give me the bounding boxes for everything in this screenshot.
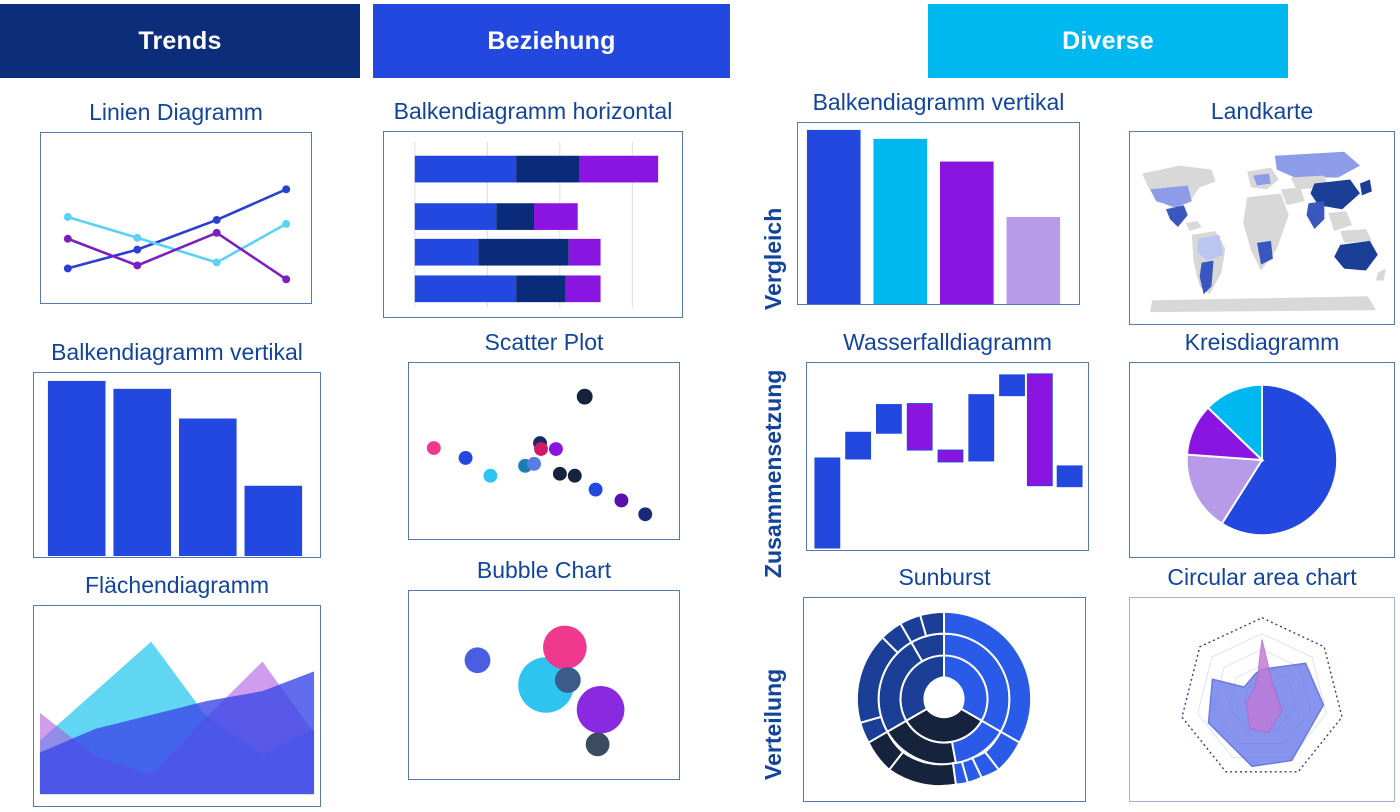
bar <box>113 389 171 556</box>
card-wasserfalldiagramm[interactable]: Wasserfalldiagramm <box>806 330 1089 551</box>
card-title-landkarte: Landkarte <box>1129 99 1395 124</box>
card-circular-area-chart[interactable]: Circular area chart <box>1129 565 1395 802</box>
sunburst-rings <box>857 612 1031 786</box>
chart-wasserfalldiagramm[interactable] <box>806 362 1089 551</box>
chart-landkarte[interactable] <box>1129 131 1395 325</box>
chart-circular-area-chart[interactable] <box>1129 597 1395 802</box>
side-label-vergleich: Vergleich <box>760 150 787 310</box>
card-title-kreisdiagramm: Kreisdiagramm <box>1129 330 1395 355</box>
radar-series <box>1209 640 1324 767</box>
card-landkarte[interactable]: Landkarte <box>1129 99 1395 325</box>
bar <box>1007 217 1061 304</box>
chart-linien-diagramm[interactable] <box>40 132 312 304</box>
chart-balkendiagramm-vertikal-1[interactable] <box>33 372 321 558</box>
card-title-sunburst: Sunburst <box>803 565 1086 590</box>
chart-kreisdiagramm[interactable] <box>1129 362 1395 558</box>
chart-scatter-plot[interactable] <box>408 362 680 540</box>
bar-row <box>415 239 601 266</box>
card-bubble-chart[interactable]: Bubble Chart <box>408 558 680 780</box>
bar-row <box>415 204 578 231</box>
chart-flaechendiagramm[interactable] <box>33 605 321 807</box>
card-title-flaechendiagramm: Flächendiagramm <box>33 573 321 598</box>
waterfall-bars <box>815 374 1082 548</box>
bubble-points <box>465 626 625 757</box>
side-label-zusammensetzung: Zusammensetzung <box>760 353 787 578</box>
bar <box>245 486 303 556</box>
card-title-wasserfalldiagramm: Wasserfalldiagramm <box>806 330 1089 355</box>
card-linien-diagramm[interactable]: Linien Diagramm <box>40 100 312 304</box>
side-label-verteilung: Verteilung <box>760 620 787 780</box>
bar-row <box>415 276 601 303</box>
header-band-beziehung[interactable]: Beziehung <box>373 4 730 78</box>
card-title-circular-area-chart: Circular area chart <box>1129 565 1395 590</box>
pie-slices <box>1187 385 1337 535</box>
line-series-3 <box>64 229 290 283</box>
header-band-beziehung-label: Beziehung <box>487 27 615 56</box>
card-scatter-plot[interactable]: Scatter Plot <box>408 330 680 540</box>
chart-gallery-page: Trends Beziehung Diverse Vergleich Zusam… <box>0 0 1400 812</box>
bar <box>179 419 237 557</box>
bar <box>940 162 994 304</box>
country-indien <box>1307 202 1325 230</box>
card-sunburst[interactable]: Sunburst <box>803 565 1086 802</box>
header-band-diverse-label: Diverse <box>1062 27 1154 56</box>
chart-balkendiagramm-horizontal[interactable] <box>383 131 683 318</box>
header-band-diverse[interactable]: Diverse <box>928 4 1288 78</box>
card-title-bubble-chart: Bubble Chart <box>408 558 680 583</box>
card-title-balkendiagramm-vertikal-1: Balkendiagramm vertikal <box>33 340 321 365</box>
card-flaechendiagramm[interactable]: Flächendiagramm <box>33 573 321 807</box>
map-landmasses <box>1142 152 1385 312</box>
header-band-trends-label: Trends <box>138 27 221 56</box>
chart-bubble-chart[interactable] <box>408 590 680 780</box>
card-title-scatter-plot: Scatter Plot <box>408 330 680 355</box>
bar <box>873 139 927 304</box>
bar-row <box>415 156 658 183</box>
country-australien <box>1334 241 1378 271</box>
country-mexiko <box>1166 206 1188 228</box>
country-russland <box>1275 152 1360 178</box>
card-balkendiagramm-horizontal[interactable]: Balkendiagramm horizontal <box>383 99 683 318</box>
bar <box>807 130 861 304</box>
card-title-balkendiagramm-vertikal-2: Balkendiagramm vertikal <box>797 90 1080 115</box>
card-balkendiagramm-vertikal-2[interactable]: Balkendiagramm vertikal <box>797 90 1080 305</box>
header-band-trends[interactable]: Trends <box>0 4 360 78</box>
card-kreisdiagramm[interactable]: Kreisdiagramm <box>1129 330 1395 558</box>
chart-sunburst[interactable] <box>803 597 1086 802</box>
scatter-points <box>427 389 652 521</box>
card-balkendiagramm-vertikal-1[interactable]: Balkendiagramm vertikal <box>33 340 321 558</box>
chart-balkendiagramm-vertikal-2[interactable] <box>797 122 1080 305</box>
bar <box>48 381 106 556</box>
card-title-linien: Linien Diagramm <box>40 100 312 125</box>
card-title-balkendiagramm-horizontal: Balkendiagramm horizontal <box>383 99 683 124</box>
